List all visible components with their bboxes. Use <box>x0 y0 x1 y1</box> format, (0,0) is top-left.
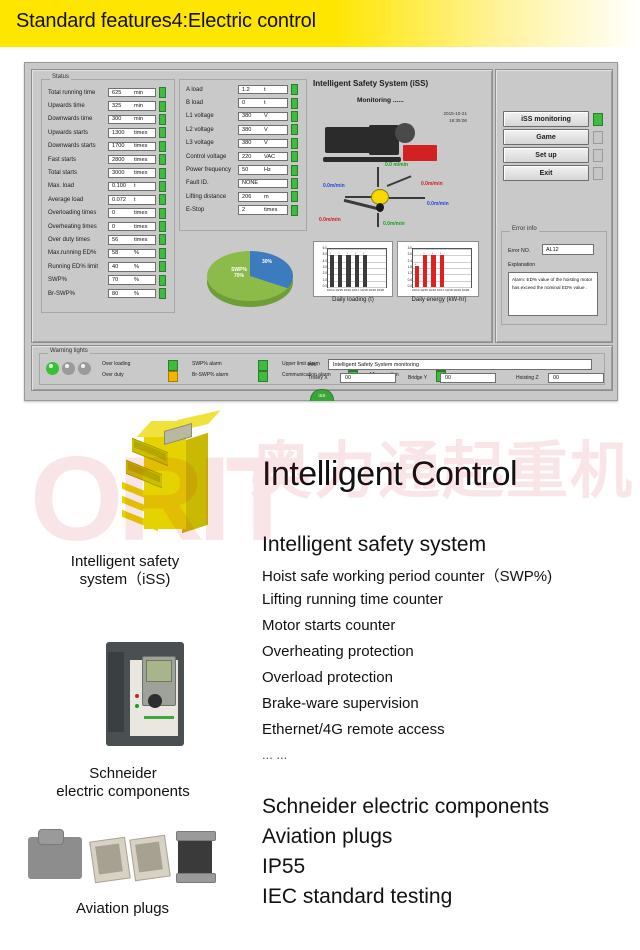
row-value: 80 <box>109 291 134 297</box>
pie-label-other-value: 30% <box>262 259 272 265</box>
heading-sub: Intelligent safety system <box>262 533 486 557</box>
pie-label-other: 30% <box>255 259 279 265</box>
feature-bullet: Lifting running time counter <box>262 591 443 608</box>
row-value: 220 <box>239 154 264 160</box>
heading-main: Intelligent Control <box>262 455 517 494</box>
alarm-label-over-loading: Over loading <box>102 361 130 367</box>
hoist-trolley-body <box>325 127 371 153</box>
row-status-led <box>291 84 298 95</box>
hmi-screen: Status Total running time625minUpwards t… <box>24 62 618 401</box>
status-row: Running ED% limit40% <box>44 260 166 273</box>
error-info-group-title: Error info <box>510 226 539 232</box>
feature-bullet: Overload protection <box>262 669 393 686</box>
highlight-line: Schneider electric components <box>262 795 549 819</box>
x-tick-label: 10/16 <box>429 288 437 292</box>
row-label: Total starts <box>44 170 108 176</box>
status-group: Status Total running time625minUpwards t… <box>41 79 175 313</box>
bar-value-marker: • <box>363 251 364 255</box>
status-row: Control voltage220VAC <box>182 150 298 163</box>
gridline <box>328 249 386 250</box>
x-tick-label: 10/14 <box>327 288 335 292</box>
x-tick-label: 10/16 <box>344 288 352 292</box>
row-unit: times <box>134 130 147 136</box>
row-unit: t <box>134 183 136 189</box>
row-field[interactable]: 2times <box>238 205 288 215</box>
caption-schneider-line1: Schneider <box>8 765 238 783</box>
row-label: Over duty times <box>44 237 108 243</box>
y-tick-label: 5.0 <box>315 253 327 257</box>
caption-iss-line1: Intelligent safety <box>20 553 230 571</box>
chart-daily-loading: 0.01.02.03.04.05.06.0•10/14•10/15•10/16•… <box>313 241 393 309</box>
plug-clamp-top <box>176 831 216 841</box>
row-field[interactable]: 56times <box>108 235 156 245</box>
daily-energy-box: 0.00.61.21.82.43.03.6•10/14•10/15•10/16•… <box>397 241 479 297</box>
status-row: Upwards time325min <box>44 99 166 112</box>
row-label: E-Stop <box>182 207 238 213</box>
row-label: Overloading times <box>44 210 108 216</box>
row-value: NONE <box>239 180 264 186</box>
status-row: Overheating times0times <box>44 220 166 233</box>
drive-base <box>112 738 174 746</box>
status-row: E-Stop2times <box>182 204 298 217</box>
row-field[interactable]: 0.100t <box>108 182 156 192</box>
row-status-led <box>159 221 166 232</box>
button-led-0 <box>593 113 603 126</box>
status-row: A load1.2t <box>182 83 298 96</box>
plug-insert-b-pins <box>135 841 163 872</box>
drive-knob <box>148 694 162 708</box>
row-value: 300 <box>109 116 134 122</box>
row-value: 380 <box>239 140 264 146</box>
daily-loading-plot: 0.01.02.03.04.05.06.0•10/14•10/15•10/16•… <box>327 248 387 288</box>
info-field[interactable]: Intelligent Safety System monitoring <box>328 359 592 370</box>
status-row: Upwards starts1300times <box>44 126 166 139</box>
bar <box>431 255 435 287</box>
row-value: 625 <box>109 90 134 96</box>
daily-loading-caption: Daily loading (t) <box>313 297 393 303</box>
row-status-led <box>159 234 166 245</box>
speed-right-blue: 0.0m/min <box>427 201 449 207</box>
alarm-label-over-duty: Over duty <box>102 372 124 378</box>
row-unit: t <box>264 100 266 106</box>
alarm-led-1 <box>168 371 178 382</box>
bar-value-marker: • <box>415 262 416 266</box>
button-game[interactable]: Game <box>503 129 589 145</box>
row-status-led <box>291 178 298 189</box>
y-tick-label: 2.0 <box>315 272 327 276</box>
feature-bullet: Ethernet/4G remote access <box>262 721 445 738</box>
highlight-line: Aviation plugs <box>262 825 392 849</box>
row-value: 1300 <box>109 130 134 136</box>
row-field[interactable]: 40% <box>108 262 156 272</box>
coord-label-trolley-x: Trolley X <box>308 375 328 381</box>
row-status-led <box>159 248 166 259</box>
plug-clamp-bottom <box>176 873 216 883</box>
row-field[interactable]: NONE <box>238 179 288 189</box>
row-value: 2800 <box>109 157 134 163</box>
error-no-label: Error NO. <box>508 248 530 254</box>
x-tick-label: 10/18 <box>360 288 368 292</box>
speed-downleft-red: 0.0m/min <box>319 217 341 223</box>
row-field[interactable]: 80% <box>108 289 156 299</box>
bar-value-marker: • <box>432 251 433 255</box>
bar <box>440 255 444 287</box>
page-title: Standard features4:Electric control <box>16 10 316 33</box>
button-iss-monitoring[interactable]: iSS monitoring <box>503 111 589 127</box>
status-row: Total starts3000times <box>44 166 166 179</box>
hook <box>376 203 384 212</box>
row-status-led <box>291 191 298 202</box>
row-label: Average load <box>44 197 108 203</box>
speed-left-blue: 0.0m/min <box>323 183 345 189</box>
row-status-led <box>159 288 166 299</box>
row-value: 56 <box>109 237 134 243</box>
hoist-control-box <box>403 145 437 161</box>
row-status-led <box>291 124 298 135</box>
row-field[interactable]: 1300times <box>108 128 156 138</box>
bar <box>415 266 419 287</box>
x-tick-label: 10/19 <box>453 288 461 292</box>
alarm-led-2 <box>258 360 268 371</box>
monitoring-label: Monitoring ...... <box>357 97 404 104</box>
status-row: L3 voltage380V <box>182 137 298 150</box>
row-field[interactable]: 58% <box>108 249 156 259</box>
row-unit: V <box>264 127 268 133</box>
row-value: 0 <box>109 210 134 216</box>
x-tick-label: 10/20 <box>377 288 385 292</box>
bar-value-marker: • <box>440 251 441 255</box>
button-led-3 <box>593 167 603 180</box>
row-label: Running ED% limit <box>44 264 108 270</box>
row-unit: % <box>134 264 139 270</box>
row-value: 40 <box>109 264 134 270</box>
row-value: 380 <box>239 127 264 133</box>
row-field[interactable]: 220VAC <box>238 152 288 162</box>
status-row: B load0t <box>182 96 298 109</box>
feature-bullet: Overheating protection <box>262 643 414 660</box>
row-unit: times <box>134 237 147 243</box>
y-tick-label: 6.0 <box>315 247 327 251</box>
row-unit: t <box>134 197 136 203</box>
status-row: Br-SWP%80% <box>44 287 166 300</box>
row-label: Max. load <box>44 183 108 189</box>
daily-energy-plot: 0.00.61.21.82.43.03.6•10/14•10/15•10/16•… <box>412 248 472 288</box>
feature-bullet: Brake-ware supervision <box>262 695 419 712</box>
bar <box>355 255 359 287</box>
coord-field-0[interactable]: 00 <box>340 373 396 383</box>
y-tick-label: 3.6 <box>400 247 412 251</box>
speed-down-green: 0.0m/min <box>383 221 405 227</box>
coord-label-bridge-y: Bridge Y <box>408 375 427 381</box>
error-info-group: Error info Error NO. AL12 Explanation Al… <box>501 231 607 325</box>
arrow-right <box>389 197 425 199</box>
feature-bullet: ... ... <box>262 747 287 762</box>
row-status-led <box>291 138 298 149</box>
status-row: Average load0.072t <box>44 193 166 206</box>
row-field[interactable]: 625min <box>108 88 156 98</box>
row-status-led <box>291 205 298 216</box>
status-row: Lifting distance206m <box>182 190 298 203</box>
row-field[interactable]: 50Hz <box>238 165 288 175</box>
caption-iss-line2: system（iSS) <box>20 571 230 589</box>
schneider-logo <box>144 716 174 719</box>
row-label: A load <box>182 87 238 93</box>
row-label: Max.running ED% <box>44 250 108 256</box>
row-unit: min <box>134 103 143 109</box>
status-group-title: Status <box>50 74 71 80</box>
bar <box>338 255 342 287</box>
status-row: Fault ID.NONE <box>182 177 298 190</box>
row-status-led <box>159 261 166 272</box>
row-value: 325 <box>109 103 134 109</box>
row-value: 3000 <box>109 170 134 176</box>
y-tick-label: 1.0 <box>315 279 327 283</box>
row-status-led <box>291 111 298 122</box>
x-tick-label: 10/19 <box>368 288 376 292</box>
row-unit: min <box>134 90 143 96</box>
x-tick-label: 10/17 <box>437 288 445 292</box>
row-label: L2 voltage <box>182 127 238 133</box>
row-label: Downwards time <box>44 116 108 122</box>
y-tick-label: 4.0 <box>315 260 327 264</box>
chart-daily-energy: 0.00.61.21.82.43.03.6•10/14•10/15•10/16•… <box>397 241 481 309</box>
row-field[interactable]: 380V <box>238 112 288 122</box>
caption-schneider-line2: electric components <box>8 783 238 801</box>
row-status-led <box>291 98 298 109</box>
row-label: Lifting distance <box>182 194 238 200</box>
x-tick-label: 10/15 <box>420 288 428 292</box>
bar <box>363 255 367 287</box>
y-tick-label: 1.2 <box>400 272 412 276</box>
row-field[interactable]: 70% <box>108 275 156 285</box>
y-tick-label: 3.0 <box>315 266 327 270</box>
row-value: 1700 <box>109 143 134 149</box>
row-field[interactable]: 325min <box>108 101 156 111</box>
row-label: Fault ID. <box>182 180 238 186</box>
row-label: Br-SWP% <box>44 291 108 297</box>
y-tick-label: 2.4 <box>400 260 412 264</box>
explanation-label: Explanation <box>508 262 535 268</box>
row-value: 0.072 <box>109 197 134 203</box>
row-field[interactable]: 206m <box>238 192 288 202</box>
arrow-diag-up-right <box>387 175 412 187</box>
row-unit: times <box>264 207 277 213</box>
hoist-illustration: 0.0 m/min 0.0m/min 0.0m/min 0.0m/min 0.0… <box>315 121 495 241</box>
feature-bullet: Hoist safe working period counter（SWP%) <box>262 565 552 586</box>
row-field[interactable]: 0times <box>108 222 156 232</box>
row-label: Downwards starts <box>44 143 108 149</box>
row-status-led <box>291 165 298 176</box>
drive-fins <box>108 652 124 732</box>
bar-value-marker: • <box>423 251 424 255</box>
plug-insert-a-pins <box>95 843 123 874</box>
status-row: L1 voltage380V <box>182 110 298 123</box>
row-field[interactable]: 3000times <box>108 168 156 178</box>
explanation-text: Alarm: ED% value of the hoisting motor h… <box>508 272 598 316</box>
row-status-led <box>159 127 166 138</box>
bar-value-marker: • <box>338 251 339 255</box>
daily-loading-box: 0.01.02.03.04.05.06.0•10/14•10/15•10/16•… <box>313 241 393 297</box>
arrow-up <box>377 167 379 187</box>
row-field[interactable]: 0.072t <box>108 195 156 205</box>
row-status-led <box>159 154 166 165</box>
row-label: L1 voltage <box>182 113 238 119</box>
status-row: Downwards time300min <box>44 113 166 126</box>
bar-value-marker: • <box>347 251 348 255</box>
row-unit: % <box>134 277 139 283</box>
button-led-1 <box>593 131 603 144</box>
content-area: Intelligent safety system（iSS) Schneider… <box>0 405 640 950</box>
status-row: Downwards starts1700times <box>44 140 166 153</box>
row-unit: times <box>134 224 147 230</box>
row-value: 0 <box>109 224 134 230</box>
row-field[interactable]: 0times <box>108 208 156 218</box>
coord-label-hoisting-z: Hoisting Z <box>516 375 539 381</box>
caption-schneider: Schneider electric components <box>8 765 238 801</box>
row-value: 70 <box>109 277 134 283</box>
alarm-label-br-swp-alarm: Br-SWP% alarm <box>192 372 228 378</box>
x-tick-label: 10/14 <box>412 288 420 292</box>
bar <box>423 255 427 287</box>
row-value: 1.2 <box>239 87 264 93</box>
bar <box>346 255 350 287</box>
row-status-led <box>159 87 166 98</box>
row-field[interactable]: 1700times <box>108 142 156 152</box>
error-no-field[interactable]: AL12 <box>542 244 594 255</box>
row-status-led <box>159 208 166 219</box>
row-unit: t <box>264 87 266 93</box>
pie-label-swp: SWP% 70% <box>219 267 259 279</box>
coord-field-1[interactable]: 00 <box>440 373 496 383</box>
row-status-led <box>159 181 166 192</box>
alarm-led-3 <box>258 371 268 382</box>
status-row: Power frequency50Hz <box>182 163 298 176</box>
row-field[interactable]: 380V <box>238 125 288 135</box>
row-label: L3 voltage <box>182 140 238 146</box>
highlight-line: IEC standard testing <box>262 885 452 909</box>
row-unit: V <box>264 140 268 146</box>
row-unit: min <box>134 116 143 122</box>
row-value: 0.100 <box>109 183 134 189</box>
row-field[interactable]: 380V <box>238 139 288 149</box>
row-status-led <box>159 141 166 152</box>
row-label: Power frequency <box>182 167 238 173</box>
row-status-led <box>159 114 166 125</box>
drive-run-led <box>135 704 139 708</box>
y-tick-label: 0.6 <box>400 279 412 283</box>
row-status-led <box>291 151 298 162</box>
date-stamp: 2015-10-21 <box>403 110 467 117</box>
row-field[interactable]: 2800times <box>108 155 156 165</box>
x-tick-label: 10/17 <box>352 288 360 292</box>
row-status-led <box>159 275 166 286</box>
row-unit: VAC <box>264 154 275 160</box>
row-label: Upwards starts <box>44 130 108 136</box>
row-unit: Hz <box>264 167 271 173</box>
hmi-button-column: iSS monitoringGameSet upExit <box>503 111 607 195</box>
arrow-down <box>377 213 379 227</box>
title-banner: Standard features4:Electric control <box>0 0 640 47</box>
row-field[interactable]: 300min <box>108 115 156 125</box>
x-tick-label: 10/20 <box>462 288 470 292</box>
drive-stop-led <box>135 694 139 698</box>
speed-up-green: 0.0 m/min <box>385 162 408 168</box>
coord-field-2[interactable]: 00 <box>548 373 604 383</box>
gridline <box>413 249 471 250</box>
x-tick-label: 10/18 <box>445 288 453 292</box>
feature-bullet: Motor starts counter <box>262 617 395 634</box>
row-unit: m <box>264 194 269 200</box>
button-exit[interactable]: Exit <box>503 165 589 181</box>
chart-swp-pie: SWP% 70% 30% <box>197 241 307 315</box>
plug-hood-neck <box>38 829 64 845</box>
highlight-line: IP55 <box>262 855 305 879</box>
status-row: Max. load0.100t <box>44 180 166 193</box>
row-unit: times <box>134 210 147 216</box>
status-row: Max.running ED%58% <box>44 247 166 260</box>
info-label: Info. <box>308 362 318 368</box>
caption-iss: Intelligent safety system（iSS) <box>20 553 230 589</box>
row-value: 206 <box>239 194 264 200</box>
status-row: Overloading times0times <box>44 207 166 220</box>
y-tick-label: 0.0 <box>315 285 327 289</box>
row-unit: times <box>134 157 147 163</box>
row-unit: % <box>134 250 139 256</box>
bar-value-marker: • <box>355 251 356 255</box>
status-row: SWP%70% <box>44 273 166 286</box>
row-label: Upwards time <box>44 103 108 109</box>
row-field[interactable]: 1.2t <box>238 85 288 95</box>
row-unit: times <box>134 143 147 149</box>
status-row: Over duty times56times <box>44 233 166 246</box>
row-value: 380 <box>239 113 264 119</box>
iss-module-image <box>108 415 238 535</box>
row-value: 2 <box>239 207 264 213</box>
row-label: SWP% <box>44 277 108 283</box>
row-label: Total running time <box>44 90 108 96</box>
status-row: Fast starts2800times <box>44 153 166 166</box>
drive-lcd <box>146 660 172 682</box>
coordinate-row: Trolley X00Bridge Y00Hoisting Z00 <box>296 373 602 385</box>
row-field[interactable]: 0t <box>238 98 288 108</box>
row-label: B load <box>182 100 238 106</box>
row-label: Control voltage <box>182 154 238 160</box>
bar-value-marker: • <box>330 251 331 255</box>
row-unit: V <box>264 113 268 119</box>
button-set-up[interactable]: Set up <box>503 147 589 163</box>
param-group: A load1.2tB load0tL1 voltage380VL2 volta… <box>179 79 307 231</box>
iss-header: Intelligent Safety System (iSS) Monitori… <box>311 77 487 121</box>
status-row: L2 voltage380V <box>182 123 298 136</box>
row-status-led <box>159 194 166 205</box>
speed-upright-red: 0.0m/min <box>421 181 443 187</box>
pie-label-swp-value: 70% <box>234 273 244 279</box>
warning-lights-group: Warning lights Over loadingOver dutySWP%… <box>39 353 605 385</box>
row-status-led <box>159 101 166 112</box>
status-row: Total running time625min <box>44 86 166 99</box>
row-value: 0 <box>239 100 264 106</box>
bar <box>330 255 334 287</box>
hoist-drum <box>395 123 415 143</box>
row-unit: % <box>134 291 139 297</box>
row-value: 50 <box>239 167 264 173</box>
alarm-led-0 <box>168 360 178 371</box>
row-label: Overheating times <box>44 224 108 230</box>
row-value: 58 <box>109 250 134 256</box>
aviation-plugs-image <box>20 825 235 897</box>
y-tick-label: 3.0 <box>400 253 412 257</box>
row-status-led <box>159 168 166 179</box>
